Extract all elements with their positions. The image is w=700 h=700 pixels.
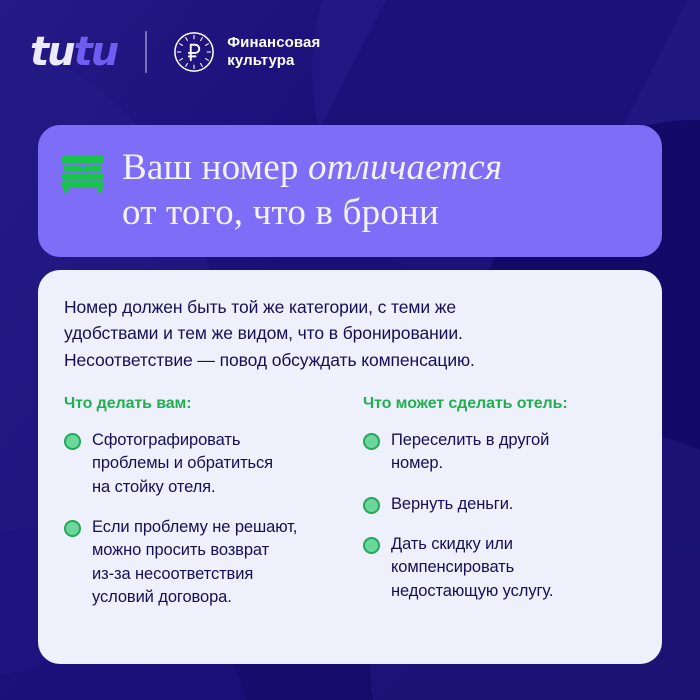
bed-icon bbox=[60, 154, 106, 194]
ruble-coin-icon bbox=[173, 31, 215, 73]
title-banner: Ваш номер отличается от того, что в брон… bbox=[38, 125, 662, 257]
intro-paragraph: Номер должен быть той же категории, с те… bbox=[64, 294, 636, 373]
title-line-one-plain: Ваш номер bbox=[122, 147, 308, 188]
bullet-dot-icon bbox=[363, 433, 380, 450]
partner-brand: Финансовая культура bbox=[173, 31, 320, 73]
column-what-you-can-do: Что делать вам: Сфотографировать проблем… bbox=[64, 395, 337, 627]
bullet-list-guest: Сфотографировать проблемы и обратиться н… bbox=[64, 429, 337, 610]
header: tutu bbox=[0, 0, 700, 104]
bullet-text: Дать скидку или компенсировать недостающ… bbox=[391, 533, 553, 603]
slide-canvas: tutu bbox=[0, 0, 700, 700]
bullet-text: Если проблему не решают, можно просить в… bbox=[92, 516, 297, 610]
bullet-text: Сфотографировать проблемы и обратиться н… bbox=[92, 429, 273, 499]
list-item: Если проблему не решают, можно просить в… bbox=[64, 516, 337, 610]
title-text: Ваш номер отличается от того, что в брон… bbox=[122, 145, 502, 235]
list-item: Переселить в другой номер. bbox=[363, 429, 636, 476]
content-card: Номер должен быть той же категории, с те… bbox=[38, 270, 662, 664]
title-line-one-italic: отличается bbox=[308, 147, 502, 188]
bullet-text: Вернуть деньги. bbox=[391, 493, 513, 516]
bullet-list-hotel: Переселить в другой номер. Вернуть деньг… bbox=[363, 429, 636, 604]
tutu-logo-part-one: tu bbox=[30, 29, 74, 75]
advice-columns: Что делать вам: Сфотографировать проблем… bbox=[64, 395, 636, 627]
partner-name: Финансовая культура bbox=[227, 34, 320, 71]
list-item: Сфотографировать проблемы и обратиться н… bbox=[64, 429, 337, 499]
header-divider bbox=[145, 31, 147, 73]
tutu-logo-part-two: tu bbox=[74, 29, 118, 75]
tutu-logo[interactable]: tutu bbox=[30, 32, 117, 72]
bullet-dot-icon bbox=[64, 520, 81, 537]
bullet-dot-icon bbox=[64, 433, 81, 450]
column-title-hotel: Что может сделать отель: bbox=[363, 395, 636, 413]
list-item: Дать скидку или компенсировать недостающ… bbox=[363, 533, 636, 603]
bullet-dot-icon bbox=[363, 537, 380, 554]
bullet-text: Переселить в другой номер. bbox=[391, 429, 549, 476]
column-what-hotel-can-do: Что может сделать отель: Переселить в др… bbox=[363, 395, 636, 627]
title-line-two: от того, что в брони bbox=[122, 192, 439, 233]
bullet-dot-icon bbox=[363, 497, 380, 514]
column-title-guest: Что делать вам: bbox=[64, 395, 337, 413]
list-item: Вернуть деньги. bbox=[363, 493, 636, 516]
